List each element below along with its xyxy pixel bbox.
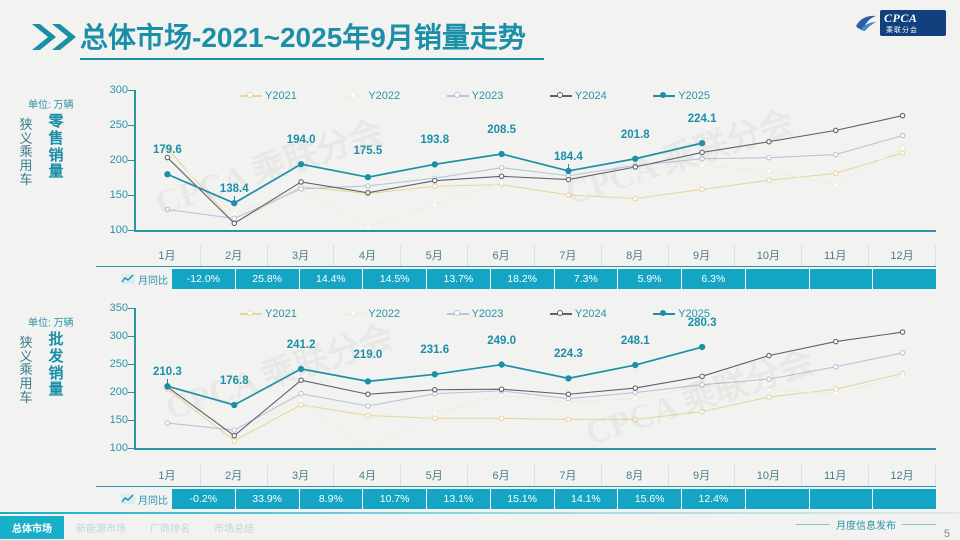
series-point-y2023 — [834, 365, 838, 369]
month-header-cell: 11月 — [802, 245, 869, 266]
data-label-y2025: 224.1 — [688, 113, 717, 125]
data-label-y2025: 179.6 — [153, 144, 182, 156]
y-tick-mark — [128, 195, 134, 196]
cpca-badge: CPCA 乘联分会 — [880, 10, 946, 36]
month-header-cell: 5月 — [401, 465, 468, 486]
yoy-cell — [746, 269, 810, 289]
series-point-y2025 — [699, 344, 704, 349]
footer-dash-right — [902, 524, 936, 525]
wholesale-month-header-row: 1月2月3月4月5月6月7月8月9月10月11月12月 — [96, 465, 936, 487]
data-label-y2025: 231.6 — [420, 344, 449, 356]
series-point-y2022 — [900, 374, 904, 378]
y-tick-mark — [128, 364, 134, 365]
yoy-cell: -12.0% — [172, 269, 236, 289]
month-header-cell: 3月 — [268, 465, 335, 486]
yoy-cell: 8.9% — [300, 489, 364, 509]
series-point-y2025 — [432, 162, 437, 167]
retail-yoy-label: 月同比 — [96, 269, 172, 289]
series-point-y2024 — [366, 392, 370, 396]
yoy-cell: 12.4% — [682, 489, 746, 509]
yoy-cell — [873, 269, 936, 289]
series-point-y2024 — [433, 388, 437, 392]
series-point-y2022 — [900, 146, 904, 150]
series-point-y2025 — [365, 175, 370, 180]
series-point-y2025 — [499, 151, 504, 156]
series-line-y2021 — [167, 374, 902, 441]
page-title: 总体市场-2021~2025年9月销量走势 — [80, 16, 526, 56]
y-tick-mark — [128, 125, 134, 126]
series-point-y2024 — [232, 221, 236, 225]
y-tick-mark — [128, 420, 134, 421]
footer-tab-3[interactable]: 市场总结 — [202, 516, 266, 539]
series-point-y2023 — [700, 157, 704, 161]
series-point-y2024 — [366, 191, 370, 195]
series-point-y2024 — [834, 128, 838, 132]
wholesale-month-table: 1月2月3月4月5月6月7月8月9月10月11月12月 月同比 -0.2%33.… — [96, 465, 936, 509]
yoy-cell — [810, 489, 874, 509]
side-label-metric-wholesale: 批发销量 — [48, 332, 64, 399]
footer-tab-0[interactable]: 总体市场 — [0, 516, 64, 539]
month-header-cell: 7月 — [535, 245, 602, 266]
series-point-y2022 — [433, 203, 437, 207]
month-header-cell: 6月 — [468, 465, 535, 486]
series-point-y2024 — [700, 150, 704, 154]
y-tick-label: 200 — [110, 154, 128, 166]
series-point-y2025 — [566, 376, 571, 381]
data-label-y2025: 176.8 — [220, 375, 249, 387]
series-point-y2024 — [633, 386, 637, 390]
series-point-y2021 — [433, 184, 437, 188]
series-point-y2021 — [633, 417, 637, 421]
y-tick-label: 100 — [110, 442, 128, 454]
data-label-y2025: 249.0 — [487, 335, 516, 347]
series-point-y2023 — [834, 152, 838, 156]
y-tick-label: 250 — [110, 358, 128, 370]
wholesale-yoy-cells: -0.2%33.9%8.9%10.7%13.1%15.1%14.1%15.6%1… — [172, 489, 936, 509]
series-point-y2024 — [633, 165, 637, 169]
wholesale-sales-panel: 单位: 万辆 狭义乘用车 批发销量 Y2021Y2022Y2023Y2024Y2… — [0, 300, 960, 512]
series-point-y2022 — [700, 163, 704, 167]
retail-yoy-cells: -12.0%25.8%14.4%14.5%13.7%18.2%7.3%5.9%6… — [172, 269, 936, 289]
month-header-cell: 9月 — [669, 245, 736, 266]
page-footer: 总体市场新能源市场厂商排名市场总结 月度信息发布 5 — [0, 512, 960, 540]
yoy-cell: 13.7% — [427, 269, 491, 289]
side-label-vehicle-type-retail: 狭义乘用车 — [18, 118, 34, 186]
data-label-y2025: 194.0 — [287, 134, 316, 146]
y-tick-label: 200 — [110, 386, 128, 398]
data-label-y2025: 210.3 — [153, 366, 182, 378]
page-number: 5 — [944, 528, 950, 540]
footer-tab-1[interactable]: 新能源市场 — [64, 516, 138, 539]
series-point-y2023 — [299, 391, 303, 395]
series-point-y2023 — [566, 397, 570, 401]
retail-month-table: 1月2月3月4月5月6月7月8月9月10月11月12月 月同比 -12.0%25… — [96, 245, 936, 289]
series-point-y2023 — [900, 133, 904, 137]
page-title-main: 总体市场 — [80, 22, 192, 53]
yoy-cell: 7.3% — [555, 269, 619, 289]
series-point-y2024 — [900, 330, 904, 334]
series-point-y2023 — [499, 166, 503, 170]
yoy-cell: 15.1% — [491, 489, 555, 509]
series-point-y2025 — [633, 362, 638, 367]
wholesale-series-svg — [134, 308, 936, 448]
page-title-sub: -2021~2025年9月销量走势 — [192, 22, 526, 53]
month-header-cell: 4月 — [334, 245, 401, 266]
trend-chart-icon — [121, 494, 135, 504]
series-point-y2025 — [365, 379, 370, 384]
page-header: 总体市场-2021~2025年9月销量走势 CPCA 乘联分会 — [0, 0, 960, 72]
series-point-y2023 — [633, 390, 637, 394]
data-label-leader — [234, 196, 235, 202]
series-point-y2024 — [767, 140, 771, 144]
cpca-logo: CPCA 乘联分会 — [854, 10, 946, 36]
series-point-y2021 — [900, 151, 904, 155]
series-point-y2021 — [366, 413, 370, 417]
month-header-cell: 12月 — [869, 245, 936, 266]
series-point-y2022 — [767, 388, 771, 392]
series-point-y2021 — [834, 387, 838, 391]
series-point-y2021 — [767, 178, 771, 182]
series-point-y2024 — [499, 387, 503, 391]
series-point-y2023 — [767, 377, 771, 381]
cpca-logo-text: CPCA — [884, 11, 917, 26]
series-point-y2023 — [366, 184, 370, 188]
yoy-cell: 6.3% — [682, 269, 746, 289]
yoy-cell: 14.4% — [300, 269, 364, 289]
yoy-cell: 5.9% — [618, 269, 682, 289]
data-label-y2025: 219.0 — [354, 349, 383, 361]
series-point-y2022 — [834, 391, 838, 395]
yoy-cell: 25.8% — [236, 269, 300, 289]
footer-divider — [0, 512, 960, 514]
month-header-cell: 1月 — [134, 465, 201, 486]
series-point-y2021 — [566, 417, 570, 421]
series-point-y2021 — [834, 171, 838, 175]
y-tick-label: 300 — [110, 84, 128, 96]
series-point-y2021 — [700, 409, 704, 413]
data-label-y2025: 138.4 — [220, 183, 249, 195]
y-tick-mark — [128, 230, 134, 231]
y-tick-label: 300 — [110, 330, 128, 342]
series-point-y2025 — [699, 141, 704, 146]
month-header-cell: 4月 — [334, 465, 401, 486]
series-line-y2024 — [167, 116, 902, 224]
series-point-y2022 — [767, 169, 771, 173]
series-point-y2024 — [232, 433, 236, 437]
series-point-y2021 — [767, 395, 771, 399]
series-point-y2025 — [298, 162, 303, 167]
series-point-y2021 — [700, 187, 704, 191]
series-point-y2024 — [299, 180, 303, 184]
data-label-y2025: 248.1 — [621, 335, 650, 347]
series-point-y2023 — [700, 383, 704, 387]
x-axis-line-retail — [134, 230, 936, 232]
footer-tabs: 总体市场新能源市场厂商排名市场总结 — [0, 516, 266, 539]
unit-label-wholesale: 单位: 万辆 — [28, 314, 74, 329]
y-tick-mark — [128, 392, 134, 393]
data-label-y2025: 193.8 — [420, 134, 449, 146]
bird-icon — [854, 12, 880, 34]
data-label-y2025: 184.4 — [554, 151, 583, 163]
unit-label-retail: 单位: 万辆 — [28, 96, 74, 111]
y-tick-label: 250 — [110, 119, 128, 131]
y-tick-mark — [128, 448, 134, 449]
data-label-y2025: 208.5 — [487, 124, 516, 136]
series-point-y2025 — [432, 372, 437, 377]
yoy-cell: 15.6% — [618, 489, 682, 509]
yoy-cell — [746, 489, 810, 509]
footer-brand-text: 月度信息发布 — [836, 517, 896, 532]
yoy-cell: 14.1% — [555, 489, 619, 509]
series-line-y2022 — [167, 148, 902, 227]
y-tick-mark — [128, 336, 134, 337]
y-tick-label: 100 — [110, 224, 128, 236]
month-header-cell: 5月 — [401, 245, 468, 266]
series-point-y2024 — [834, 339, 838, 343]
series-point-y2023 — [232, 216, 236, 220]
month-header-cell: 2月 — [201, 465, 268, 486]
wholesale-yoy-label-text: 月同比 — [138, 492, 168, 507]
series-point-y2025 — [232, 402, 237, 407]
series-point-y2024 — [566, 392, 570, 396]
month-header-cell: 9月 — [669, 465, 736, 486]
side-label-metric-retail: 零售销量 — [48, 114, 64, 181]
yoy-cell — [810, 269, 874, 289]
y-tick-mark — [128, 90, 134, 91]
data-label-leader — [568, 164, 569, 170]
y-axis-wholesale: 100150200250300350 — [96, 308, 132, 460]
double-chevron-icon — [30, 22, 78, 52]
month-header-cell: 10月 — [735, 245, 802, 266]
series-point-y2024 — [299, 378, 303, 382]
retail-series-svg — [134, 90, 936, 230]
data-label-leader — [167, 379, 168, 385]
series-point-y2025 — [165, 172, 170, 177]
series-point-y2022 — [633, 397, 637, 401]
series-point-y2022 — [299, 398, 303, 402]
series-point-y2023 — [366, 404, 370, 408]
series-point-y2023 — [165, 207, 169, 211]
yoy-cell: 10.7% — [363, 489, 427, 509]
yoy-cell: 33.9% — [236, 489, 300, 509]
series-point-y2024 — [566, 177, 570, 181]
y-tick-label: 150 — [110, 189, 128, 201]
series-point-y2021 — [433, 416, 437, 420]
series-point-y2021 — [566, 193, 570, 197]
data-label-y2025: 241.2 — [287, 339, 316, 351]
cpca-logo-subtext: 乘联分会 — [886, 25, 918, 35]
series-point-y2025 — [499, 362, 504, 367]
series-point-y2023 — [232, 428, 236, 432]
series-line-y2022 — [167, 376, 902, 448]
series-point-y2025 — [298, 366, 303, 371]
yoy-cell: 18.2% — [491, 269, 555, 289]
series-point-y2024 — [700, 374, 704, 378]
series-point-y2021 — [633, 196, 637, 200]
series-point-y2021 — [299, 403, 303, 407]
data-label-y2025: 175.5 — [354, 145, 383, 157]
series-point-y2025 — [633, 156, 638, 161]
data-label-y2025: 280.3 — [688, 317, 717, 329]
yoy-cell — [873, 489, 936, 509]
yoy-cell: -0.2% — [172, 489, 236, 509]
wholesale-yoy-label: 月同比 — [96, 489, 172, 509]
wholesale-chart-plot: 100150200250300350 210.3176.8241.2219.02… — [96, 308, 936, 460]
month-header-cell: 6月 — [468, 245, 535, 266]
data-label-y2025: 224.3 — [554, 348, 583, 360]
y-tick-mark — [128, 160, 134, 161]
month-header-cell: 12月 — [869, 465, 936, 486]
y-tick-mark — [128, 308, 134, 309]
title-underline — [80, 58, 544, 60]
month-header-cell: 7月 — [535, 465, 602, 486]
retail-yoy-row: 月同比 -12.0%25.8%14.4%14.5%13.7%18.2%7.3%5… — [96, 269, 936, 289]
series-point-y2024 — [499, 174, 503, 178]
month-header-cell: 8月 — [602, 465, 669, 486]
month-header-cell: 1月 — [134, 245, 201, 266]
series-point-y2022 — [366, 225, 370, 229]
retail-chart-plot: 100150200250300 179.6138.4194.0175.5193.… — [96, 90, 936, 242]
series-point-y2022 — [499, 180, 503, 184]
retail-month-header-row: 1月2月3月4月5月6月7月8月9月10月11月12月 — [96, 245, 936, 267]
month-header-cell: 2月 — [201, 245, 268, 266]
yoy-cell: 14.5% — [363, 269, 427, 289]
series-point-y2024 — [433, 178, 437, 182]
series-point-y2023 — [767, 155, 771, 159]
series-point-y2021 — [232, 439, 236, 443]
month-header-cell: 3月 — [268, 245, 335, 266]
yoy-cell: 13.1% — [427, 489, 491, 509]
y-axis-retail: 100150200250300 — [96, 90, 132, 242]
month-header-cell: 8月 — [602, 245, 669, 266]
data-label-y2025: 201.8 — [621, 129, 650, 141]
series-point-y2021 — [499, 416, 503, 420]
series-point-y2023 — [900, 351, 904, 355]
retail-sales-panel: 单位: 万辆 狭义乘用车 零售销量 Y2021Y2022Y2023Y2024Y2… — [0, 82, 960, 292]
series-line-y2024 — [167, 332, 902, 436]
y-tick-label: 150 — [110, 414, 128, 426]
trend-chart-icon — [121, 274, 135, 284]
wholesale-yoy-row: 月同比 -0.2%33.9%8.9%10.7%13.1%15.1%14.1%15… — [96, 489, 936, 509]
series-point-y2023 — [299, 187, 303, 191]
month-header-cell: 11月 — [802, 465, 869, 486]
series-point-y2022 — [232, 211, 236, 215]
series-point-y2024 — [767, 353, 771, 357]
series-point-y2024 — [900, 113, 904, 117]
series-point-y2022 — [834, 182, 838, 186]
y-tick-label: 350 — [110, 302, 128, 314]
x-axis-line-wholesale — [134, 448, 936, 450]
series-point-y2022 — [433, 411, 437, 415]
series-point-y2022 — [499, 393, 503, 397]
series-line-y2021 — [167, 149, 902, 223]
footer-dash-left — [796, 524, 830, 525]
side-label-vehicle-type-wholesale: 狭义乘用车 — [18, 336, 34, 404]
month-header-cell: 10月 — [735, 465, 802, 486]
series-point-y2023 — [165, 421, 169, 425]
footer-brand: 月度信息发布 — [796, 517, 936, 532]
footer-tab-2[interactable]: 厂商排名 — [138, 516, 202, 539]
retail-yoy-label-text: 月同比 — [138, 272, 168, 287]
